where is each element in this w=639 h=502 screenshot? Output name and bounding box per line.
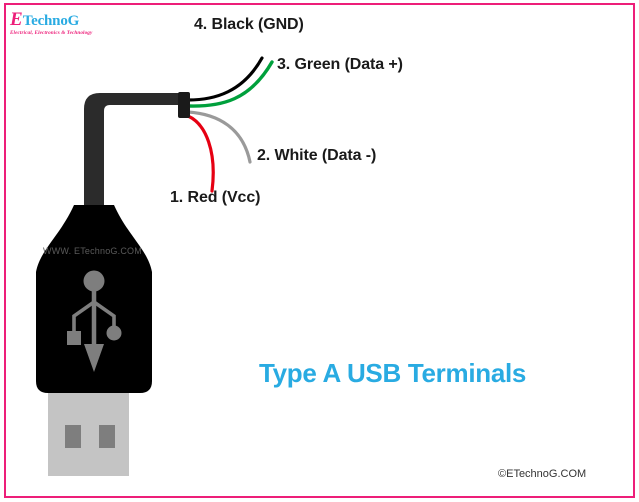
page-title: Type A USB Terminals bbox=[259, 358, 526, 389]
wire-label-red: 1. Red (Vcc) bbox=[170, 189, 260, 207]
wire-label-black: 4. Black (GND) bbox=[194, 16, 304, 34]
wire-label-green: 3. Green (Data +) bbox=[277, 56, 403, 74]
shield-slot-left bbox=[65, 425, 81, 448]
wire-white bbox=[188, 112, 250, 162]
shield-slot-right bbox=[99, 425, 115, 448]
wire-black bbox=[188, 58, 262, 100]
connector-shield bbox=[48, 393, 129, 476]
wire-red bbox=[188, 116, 213, 191]
copyright-text: ©ETechnoG.COM bbox=[498, 468, 586, 480]
watermark-text: WWW. ETechnoG.COM bbox=[43, 246, 142, 256]
usb-diagram-canvas: ETechnoG Electrical, Electronics & Techn… bbox=[0, 0, 639, 502]
cable-end-cap bbox=[178, 92, 190, 118]
wire-label-white: 2. White (Data -) bbox=[257, 147, 376, 165]
